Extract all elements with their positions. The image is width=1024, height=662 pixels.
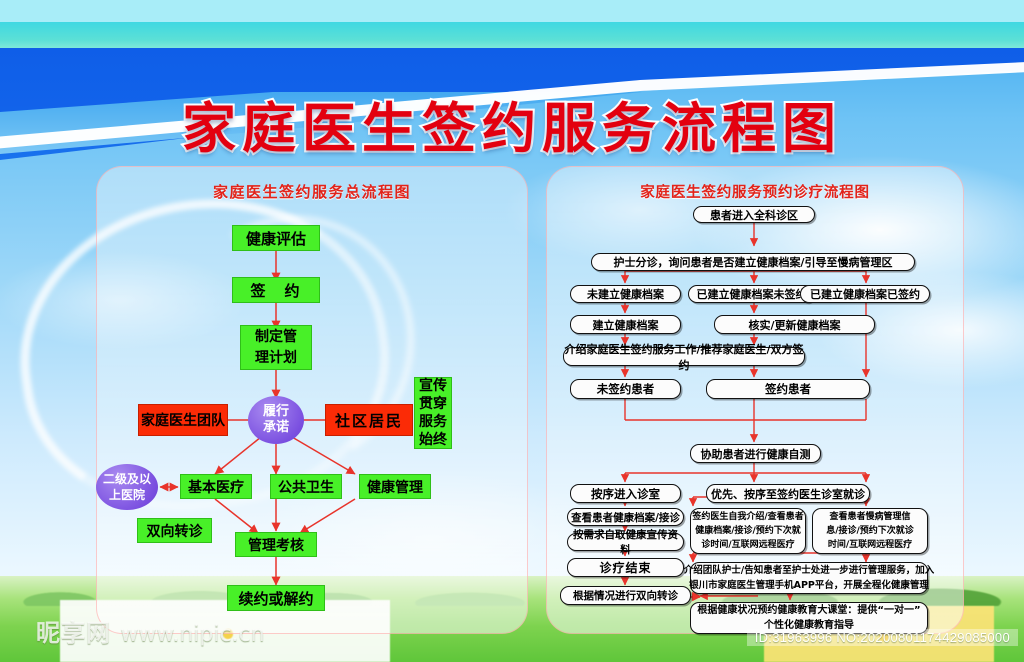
node-nurse-triage[interactable]: 护士分诊，询问患者是否建立健康档案/引导至慢病管理区 bbox=[591, 253, 915, 271]
node-take-publicity-material[interactable]: 按需求自取健康宣传资料 bbox=[567, 533, 684, 551]
node-management-assessment[interactable]: 管理考核 bbox=[235, 532, 317, 557]
node-label: 签约医生自我介绍/查看患者 健康档案/接诊/预约下次就 诊时间/互联网远程医疗 bbox=[692, 510, 803, 552]
banner-band-cyan-light bbox=[0, 0, 1024, 22]
node-label: 按需求自取健康宣传资料 bbox=[568, 527, 683, 557]
node-label: 健康评估 bbox=[246, 228, 306, 249]
node-label: 未签约患者 bbox=[597, 381, 655, 397]
node-priority-signed-doctor[interactable]: 优先、按序至签约医生诊室就诊 bbox=[706, 484, 870, 503]
node-enter-general-clinic[interactable]: 患者进入全科诊区 bbox=[693, 206, 815, 223]
node-level2-hospital[interactable]: 二级及以 上医院 bbox=[96, 464, 158, 510]
node-label: 介绍家庭医生签约服务工作/推荐家庭医生/双方签约 bbox=[564, 341, 804, 373]
watermark-id: ID:31963996 NO:20200801174429085000 bbox=[747, 629, 1018, 646]
node-two-way-referral-left[interactable]: 双向转诊 bbox=[137, 518, 212, 543]
node-basic-medical[interactable]: 基本医疗 bbox=[180, 474, 252, 499]
node-two-way-referral-by-condition[interactable]: 根据情况进行双向转诊 bbox=[560, 586, 691, 605]
watermark-brand: 昵享网 www.nipic.cn bbox=[36, 613, 265, 648]
node-consult-end[interactable]: 诊疗结束 bbox=[567, 558, 684, 577]
node-label: 健康管理 bbox=[367, 477, 423, 497]
node-label: 护士分诊，询问患者是否建立健康档案/引导至慢病管理区 bbox=[613, 254, 892, 270]
node-label: 履行 承诺 bbox=[263, 404, 289, 436]
node-label: 双向转诊 bbox=[147, 521, 203, 541]
node-label: 查看患者健康档案/接诊 bbox=[571, 510, 680, 525]
node-label: 查看患者慢病管理信 息/接诊/预约下次就诊 时间/互联网远程医疗 bbox=[826, 510, 914, 552]
node-label: 二级及以 上医院 bbox=[103, 471, 151, 503]
right-panel-title: 家庭医生签约服务预约诊疗流程图 bbox=[547, 181, 963, 202]
node-label: 家庭医生团队 bbox=[141, 410, 225, 430]
node-publicity-throughout[interactable]: 宣传 贯穿 服务 始终 bbox=[414, 377, 452, 449]
node-introduce-service[interactable]: 介绍家庭医生签约服务工作/推荐家庭医生/双方签约 bbox=[563, 347, 805, 366]
node-label: 协助患者进行健康自测 bbox=[701, 446, 811, 462]
node-renew-or-terminate[interactable]: 续约或解约 bbox=[227, 585, 325, 611]
watermark-brand-text: 昵享网 bbox=[36, 619, 111, 647]
node-unsigned-patient[interactable]: 未签约患者 bbox=[570, 379, 681, 399]
node-no-record[interactable]: 未建立健康档案 bbox=[570, 285, 681, 303]
node-verify-update-record[interactable]: 核实/更新健康档案 bbox=[714, 315, 875, 334]
node-label: 制定管 理计划 bbox=[255, 327, 297, 369]
node-label: 基本医疗 bbox=[188, 477, 244, 497]
node-record-signed[interactable]: 已建立健康档案已签约 bbox=[800, 285, 930, 303]
node-sign-contract[interactable]: 签 约 bbox=[232, 277, 320, 303]
node-make-plan[interactable]: 制定管 理计划 bbox=[240, 325, 312, 370]
node-record-unsigned[interactable]: 已建立健康档案未签约 bbox=[688, 285, 815, 303]
node-label: 签 约 bbox=[250, 280, 301, 301]
node-label: 按序进入诊室 bbox=[591, 486, 660, 502]
node-doctor-self-intro[interactable]: 签约医生自我介绍/查看患者 健康档案/接诊/预约下次就 诊时间/互联网远程医疗 bbox=[690, 508, 806, 554]
node-label: 诊疗结束 bbox=[599, 559, 651, 576]
node-label: 患者进入全科诊区 bbox=[710, 207, 798, 223]
node-label: 管理考核 bbox=[248, 535, 304, 555]
node-fulfill-promise[interactable]: 履行 承诺 bbox=[248, 396, 304, 444]
node-label: 社区居民 bbox=[335, 410, 403, 431]
node-label: 公共卫生 bbox=[278, 477, 334, 497]
node-create-record[interactable]: 建立健康档案 bbox=[570, 315, 681, 334]
node-label: 已建立健康档案未签约 bbox=[697, 286, 807, 302]
node-label: 宣传 贯穿 服务 始终 bbox=[419, 377, 447, 449]
node-label: 根据情况进行双向转诊 bbox=[573, 588, 678, 603]
node-label: 建立健康档案 bbox=[593, 317, 659, 333]
node-community-residents[interactable]: 社区居民 bbox=[325, 404, 413, 436]
node-chronic-info[interactable]: 查看患者慢病管理信 息/接诊/预约下次就诊 时间/互联网远程医疗 bbox=[812, 508, 928, 554]
node-enter-consult-room[interactable]: 按序进入诊室 bbox=[570, 484, 681, 503]
node-label: 未建立健康档案 bbox=[587, 286, 664, 302]
node-family-doctor-team[interactable]: 家庭医生团队 bbox=[138, 404, 228, 436]
left-panel-title: 家庭医生签约服务总流程图 bbox=[97, 181, 527, 202]
node-health-assessment[interactable]: 健康评估 bbox=[232, 225, 320, 251]
node-public-health[interactable]: 公共卫生 bbox=[270, 474, 342, 499]
node-label: 签约患者 bbox=[765, 381, 811, 397]
watermark-site-text: www.nipic.cn bbox=[120, 622, 264, 647]
node-intro-team-nurse[interactable]: 介绍团队护士/告知患者至护士处进一步进行管理服务，加入 银川市家庭医生管理手机A… bbox=[690, 562, 928, 594]
banner-band-teal bbox=[0, 22, 1024, 48]
node-label: 优先、按序至签约医生诊室就诊 bbox=[711, 486, 865, 502]
page-title: 家庭医生签约服务流程图 bbox=[0, 84, 1024, 163]
node-health-self-test[interactable]: 协助患者进行健康自测 bbox=[690, 444, 821, 463]
node-label: 已建立健康档案已签约 bbox=[810, 286, 920, 302]
node-label: 续约或解约 bbox=[238, 588, 313, 609]
node-signed-patient[interactable]: 签约患者 bbox=[706, 379, 870, 399]
node-label: 介绍团队护士/告知患者至护士处进一步进行管理服务，加入 银川市家庭医生管理手机A… bbox=[684, 563, 934, 593]
poster-canvas: 家庭医生签约服务流程图 家庭医生签约服务总流程图 bbox=[0, 0, 1024, 662]
node-health-management[interactable]: 健康管理 bbox=[359, 474, 431, 499]
node-view-record-receive[interactable]: 查看患者健康档案/接诊 bbox=[567, 508, 684, 526]
node-label: 核实/更新健康档案 bbox=[748, 317, 840, 333]
